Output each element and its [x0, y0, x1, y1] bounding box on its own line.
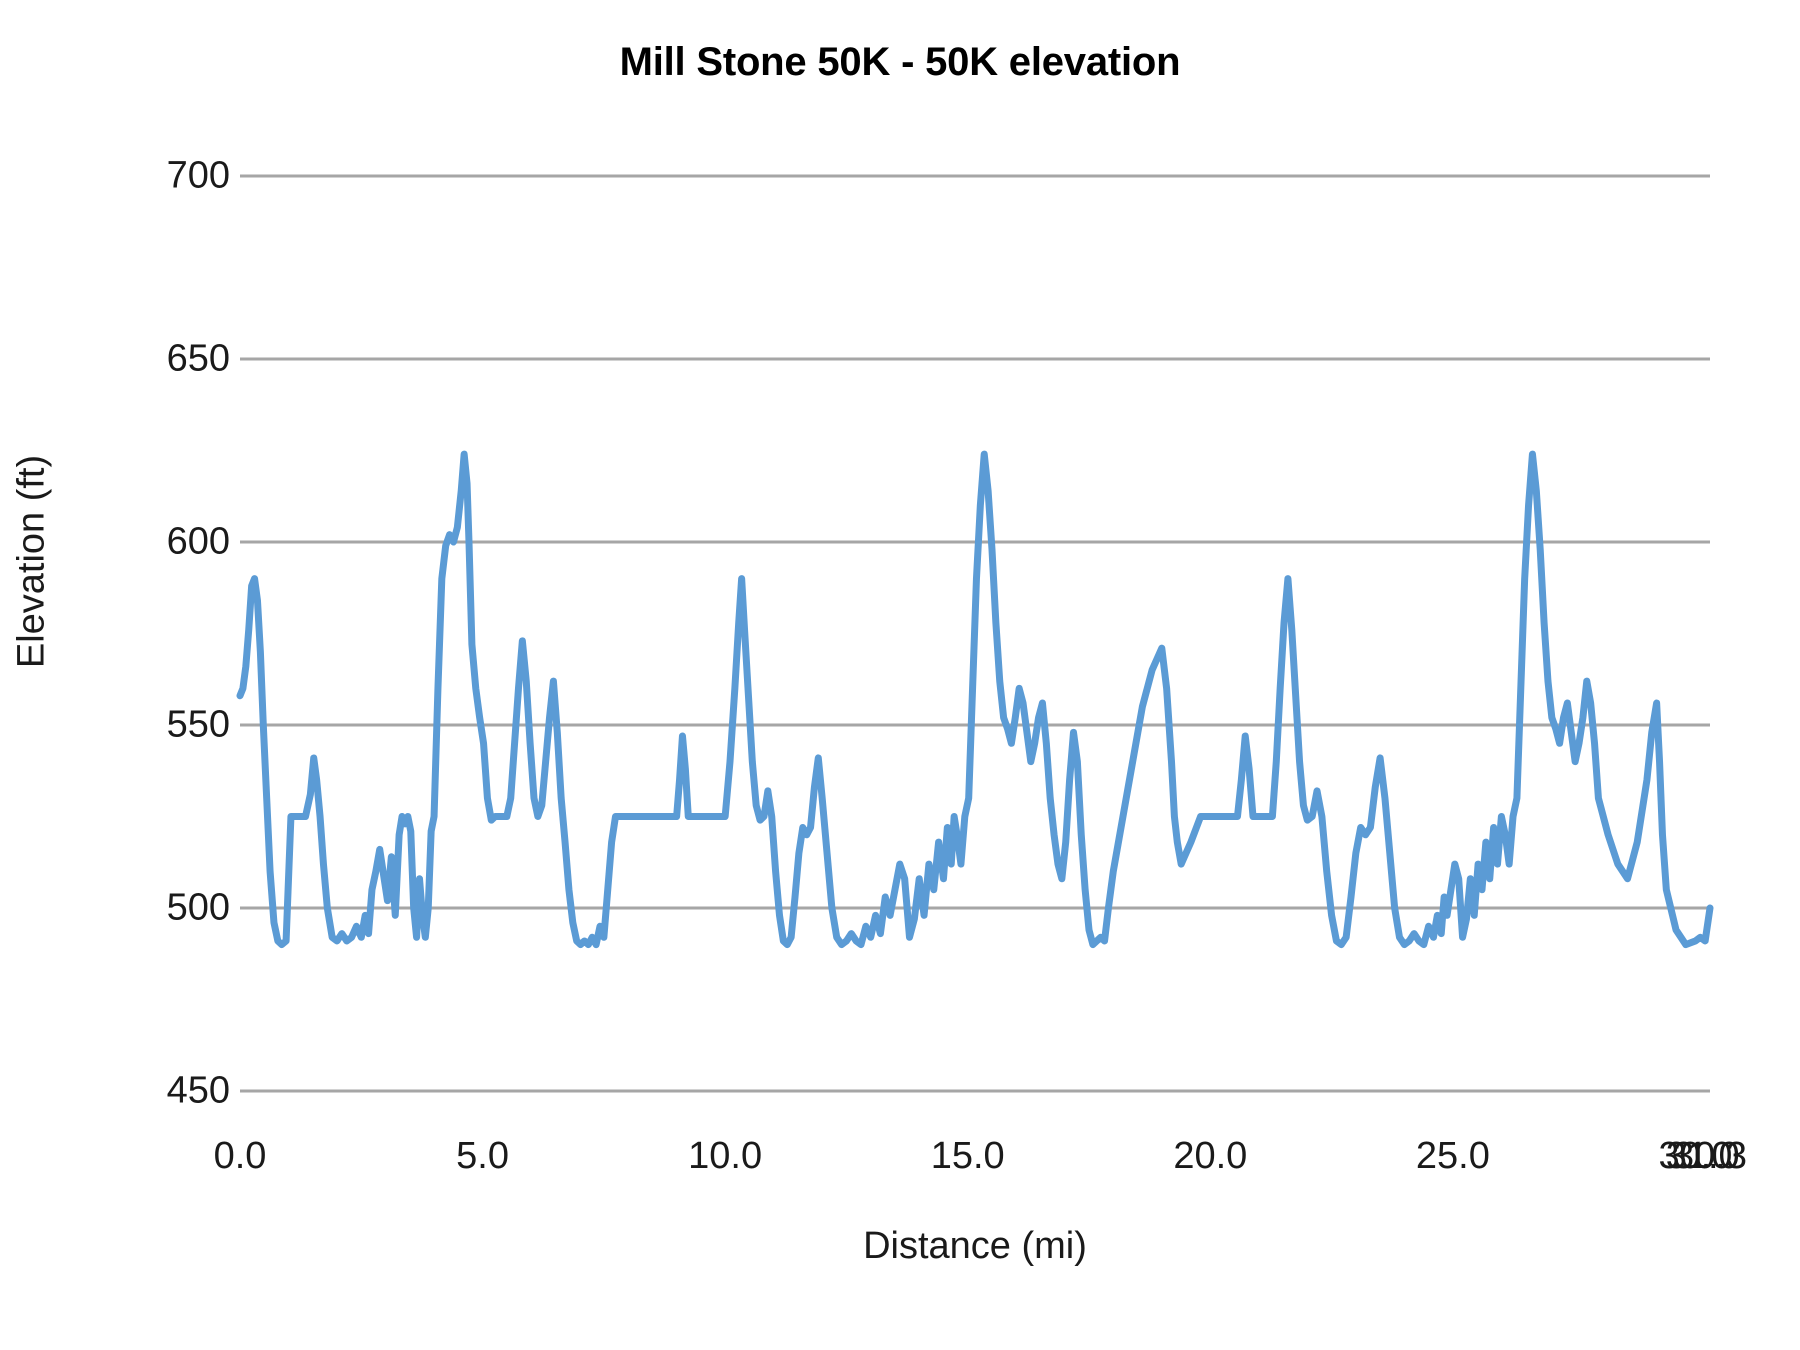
series-group [240, 454, 1710, 944]
plot-area [0, 0, 1800, 1350]
elevation-chart: Mill Stone 50K - 50K elevation Elevation… [0, 0, 1800, 1350]
series-line [240, 454, 1710, 944]
